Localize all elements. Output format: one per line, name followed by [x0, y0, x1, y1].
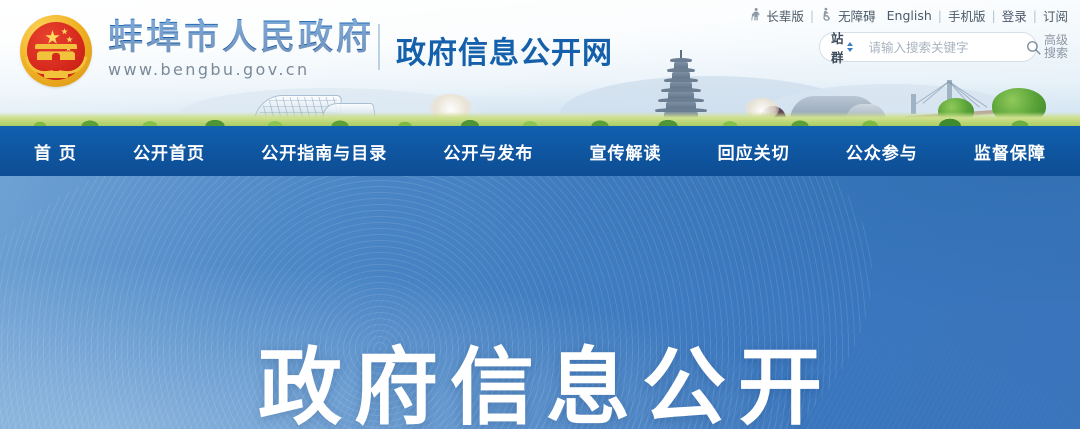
nav-item-open-publish[interactable]: 公开与发布: [443, 139, 533, 164]
utility-separator: |: [809, 8, 815, 23]
nav-item-response[interactable]: 回应关切: [718, 139, 790, 164]
site-subtitle: 政府信息公开网: [396, 28, 613, 72]
search-box[interactable]: 站群: [819, 32, 1037, 62]
nav-item-home[interactable]: 首 页: [34, 139, 77, 164]
advanced-search-line2: 搜索: [1044, 47, 1068, 60]
site-title-block: 蚌埠市人民政府 www.bengbu.gov.cn: [108, 18, 374, 79]
elder-version-label: 长辈版: [766, 6, 804, 25]
search-scope-label: 站群: [831, 28, 844, 66]
nav-item-participation[interactable]: 公众参与: [846, 139, 918, 164]
wheelchair-accessibility-icon: [820, 7, 835, 25]
utility-separator: |: [1032, 8, 1038, 23]
mobile-version-link[interactable]: 手机版: [948, 6, 986, 25]
nav-item-guide-catalog[interactable]: 公开指南与目录: [261, 139, 387, 164]
page-root: 蚌埠市人民政府 www.bengbu.gov.cn 政府信息公开网: [0, 0, 1080, 429]
search-icon[interactable]: [1025, 39, 1042, 56]
subscribe-link[interactable]: 订阅: [1043, 6, 1068, 25]
government-name: 蚌埠市人民政府: [108, 18, 374, 58]
banner-title: 政府信息公开: [0, 321, 1080, 429]
city-skyline-illustration: [0, 78, 1080, 126]
accessibility-link[interactable]: 无障碍: [820, 6, 876, 25]
hero-banner: 政府信息公开: [0, 176, 1080, 429]
greenbelt: [0, 112, 1080, 126]
search-input[interactable]: [869, 40, 1025, 55]
utility-links: 长辈版 | 无障碍 English | 手机版 | 登录 | 订阅: [748, 6, 1068, 25]
main-navigation: 首 页 公开首页 公开指南与目录 公开与发布 宣传解读 回应关切 公众参与 监督…: [0, 126, 1080, 176]
utility-separator: |: [991, 8, 997, 23]
title-divider: [378, 24, 380, 70]
government-url: www.bengbu.gov.cn: [108, 60, 374, 79]
site-header: 蚌埠市人民政府 www.bengbu.gov.cn 政府信息公开网: [0, 0, 1080, 126]
nav-item-supervision[interactable]: 监督保障: [974, 139, 1046, 164]
updown-spinner-icon: [847, 42, 853, 52]
advanced-search-link[interactable]: 高级 搜索: [1044, 34, 1068, 60]
nav-item-open-home[interactable]: 公开首页: [133, 139, 205, 164]
search-row: 站群 高级 搜索: [819, 32, 1068, 62]
login-link[interactable]: 登录: [1002, 6, 1027, 25]
elderly-person-icon: [748, 7, 763, 25]
search-scope-selector[interactable]: 站群: [831, 28, 853, 66]
utility-separator: |: [937, 8, 943, 23]
english-link[interactable]: English: [887, 8, 932, 23]
elder-version-link[interactable]: 长辈版: [748, 6, 804, 25]
nav-item-interpretation[interactable]: 宣传解读: [589, 139, 661, 164]
accessibility-label: 无障碍: [838, 6, 876, 25]
